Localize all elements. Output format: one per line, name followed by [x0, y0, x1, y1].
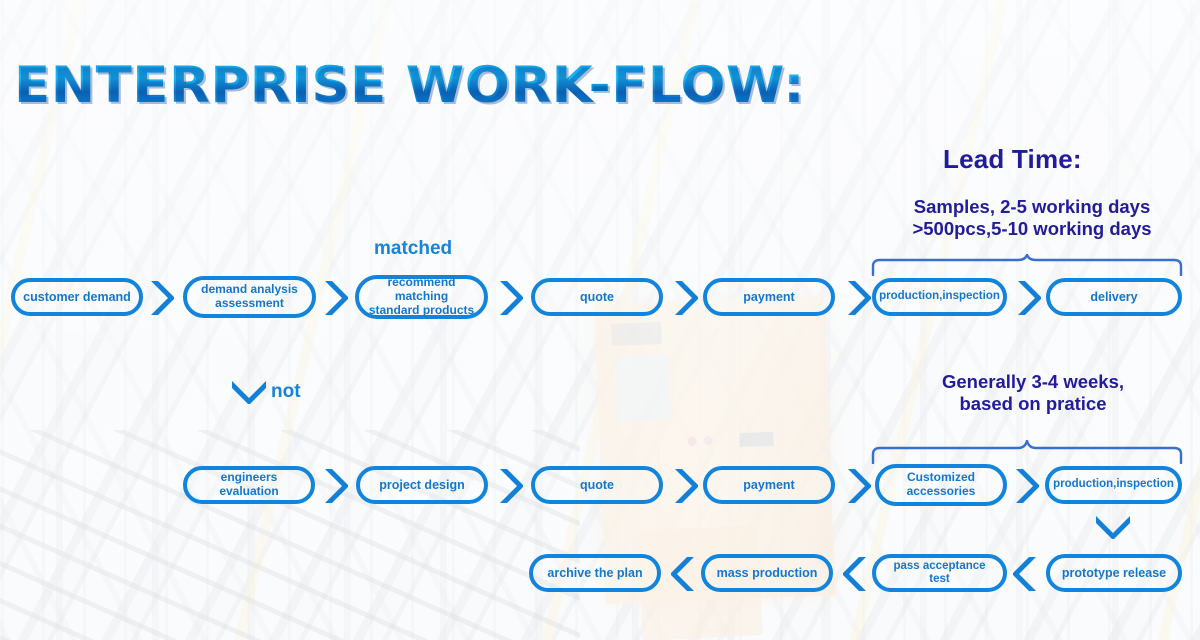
- flow-step-pass-acceptance-test[interactable]: pass acceptance test: [872, 554, 1007, 592]
- page-title: ENTERPRISE WORK-FLOW:: [14, 56, 805, 114]
- chevron-right-icon: [1015, 278, 1041, 318]
- flow-step-payment-row1[interactable]: payment: [703, 278, 835, 316]
- chevron-right-icon: [672, 278, 698, 318]
- chevron-right-icon: [845, 466, 871, 506]
- branch-label-not: not: [271, 381, 301, 403]
- flow-step-quote-row1[interactable]: quote: [531, 278, 663, 316]
- lead-time-body: Samples, 2-5 working days >500pcs,5-10 w…: [879, 196, 1185, 240]
- chevron-left-icon: [1013, 554, 1039, 594]
- chevron-right-icon: [1013, 466, 1039, 506]
- flow-step-prototype-release[interactable]: prototype release: [1046, 554, 1182, 592]
- chevron-right-icon: [148, 278, 174, 318]
- chevron-down-icon: [229, 378, 269, 404]
- flow-step-engineers-evaluation[interactable]: engineers evaluation: [183, 466, 315, 504]
- flow-step-mass-production[interactable]: mass production: [701, 554, 833, 592]
- lead-time-heading: Lead Time:: [943, 144, 1082, 175]
- chevron-right-icon: [672, 466, 698, 506]
- chevron-right-icon: [497, 278, 523, 318]
- flow-step-archive-the-plan[interactable]: archive the plan: [529, 554, 661, 592]
- chevron-right-icon: [322, 278, 348, 318]
- chevron-right-icon: [497, 466, 523, 506]
- chevron-right-icon: [322, 466, 348, 506]
- flow-step-production-inspection-row1[interactable]: production,inspection: [872, 278, 1007, 316]
- flow-step-production-inspection-row2[interactable]: production,inspection: [1045, 466, 1182, 504]
- chevron-right-icon: [845, 278, 871, 318]
- branch-label-matched: matched: [374, 238, 452, 260]
- flow-step-demand-analysis-assessment[interactable]: demand analysis assessment: [183, 276, 316, 318]
- curly-brace-up-icon: [870, 440, 1184, 464]
- flow-step-delivery[interactable]: delivery: [1046, 278, 1182, 316]
- flow-step-customer-demand[interactable]: customer demand: [11, 278, 143, 316]
- workflow-infographic: ENTERPRISE WORK-FLOW: customer demand de…: [0, 0, 1200, 640]
- flow-step-quote-row2[interactable]: quote: [531, 466, 663, 504]
- practice-note-text: Generally 3-4 weeks, based on pratice: [880, 371, 1186, 415]
- flow-step-recommend-matching-standard-products[interactable]: recommend matching standard products: [355, 275, 488, 319]
- flow-step-project-design[interactable]: project design: [356, 466, 488, 504]
- chevron-left-icon: [843, 554, 869, 594]
- flow-step-customized-accessories[interactable]: Customized accessories: [875, 464, 1007, 506]
- chevron-left-icon: [671, 554, 697, 594]
- flow-step-payment-row2[interactable]: payment: [703, 466, 835, 504]
- chevron-down-icon: [1093, 513, 1133, 539]
- curly-brace-up-icon: [870, 254, 1184, 276]
